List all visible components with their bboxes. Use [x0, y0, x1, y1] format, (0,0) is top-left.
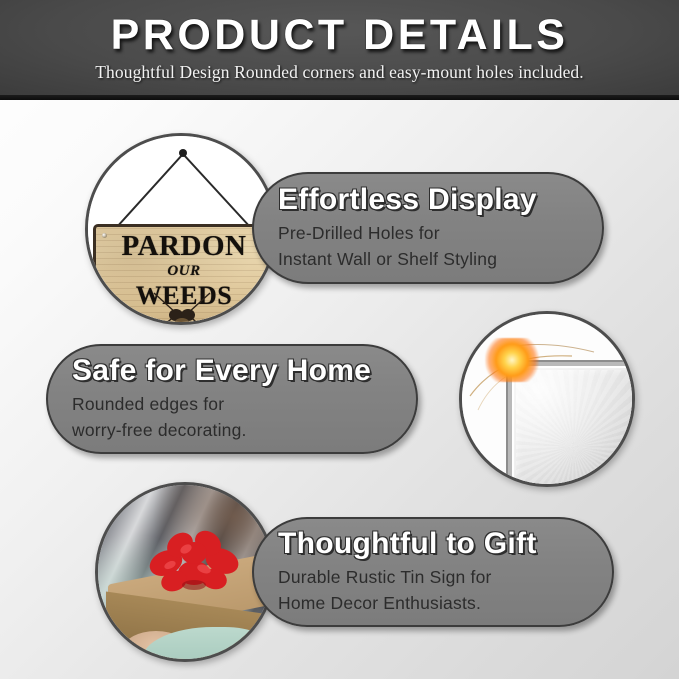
feature-line-2: worry-free decorating.	[72, 420, 247, 441]
product-details-infographic: PRODUCT DETAILS Thoughtful Design Rounde…	[0, 0, 679, 679]
feature-line-2: Home Decor Enthusiasts.	[278, 593, 481, 614]
feature-image-rounded-metal-corner	[459, 311, 635, 487]
rounded-metal-corner-photo	[462, 314, 632, 484]
feature-line-1: Rounded edges for	[72, 394, 224, 415]
feature-line-1: Pre-Drilled Holes for	[278, 223, 440, 244]
feature-card-safe-for-every-home: Safe for Every Home Rounded edges for wo…	[46, 344, 418, 454]
feature-image-gift-box	[95, 482, 275, 662]
gift-box-with-red-bow-photo	[98, 485, 272, 659]
feature-card-thoughtful-to-gift: Thoughtful to Gift Durable Rustic Tin Si…	[252, 517, 614, 627]
feature-line-1: Durable Rustic Tin Sign for	[278, 567, 492, 588]
corner-glow-highlight-icon	[485, 338, 539, 382]
feature-line-2: Instant Wall or Shelf Styling	[278, 249, 497, 270]
ant-illustration-icon	[150, 291, 214, 325]
hanging-tin-sign-photo: PARDON OUR WEEDS	[88, 136, 274, 322]
page-title: PRODUCT DETAILS	[0, 11, 679, 60]
feature-title: Safe for Every Home	[72, 354, 371, 388]
header-banner: PRODUCT DETAILS Thoughtful Design Rounde…	[0, 0, 679, 100]
sign-text-line-2: OUR	[96, 263, 272, 280]
page-subtitle: Thoughtful Design Rounded corners and ea…	[0, 62, 679, 83]
feature-title: Thoughtful to Gift	[278, 527, 537, 561]
sign-text-line-1: PARDON	[96, 230, 272, 263]
red-ribbon-bow-icon	[140, 529, 248, 601]
feature-card-effortless-display: Effortless Display Pre-Drilled Holes for…	[252, 172, 604, 284]
feature-image-hanging-tin-sign: PARDON OUR WEEDS	[85, 133, 277, 325]
sign-hanging-cord-icon	[88, 136, 277, 236]
feature-title: Effortless Display	[278, 183, 537, 217]
